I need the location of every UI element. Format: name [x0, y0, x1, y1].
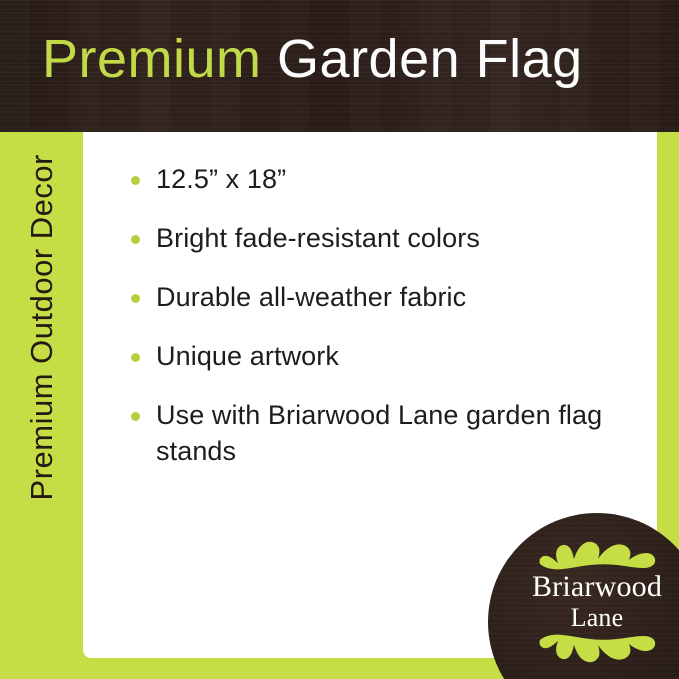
product-info-card: Premium Garden Flag Premium Outdoor Deco… [0, 0, 679, 679]
list-item: Use with Briarwood Lane garden flag stan… [128, 398, 628, 470]
oak-leaf-icon [536, 631, 658, 673]
bullet-dot-icon [131, 176, 140, 185]
list-item-label: Durable all-weather fabric [156, 282, 466, 312]
bullet-dot-icon [131, 412, 140, 421]
bullet-dot-icon [131, 353, 140, 362]
list-item-label: Unique artwork [156, 341, 339, 371]
page-title-rest: Garden Flag [262, 29, 583, 89]
brand-name-main: Briarwood [488, 571, 679, 603]
page-title: Premium Garden Flag [42, 32, 583, 86]
list-item: 12.5” x 18” [128, 162, 628, 198]
sidebar-strip [0, 132, 83, 679]
list-item-label: 12.5” x 18” [156, 164, 286, 194]
oak-leaf-icon [536, 531, 658, 573]
brand-name-sub: Lane [488, 603, 679, 633]
bullet-dot-icon [131, 235, 140, 244]
list-item-label: Bright fade-resistant colors [156, 223, 480, 253]
feature-list: 12.5” x 18” Bright fade-resistant colors… [128, 162, 628, 469]
bullet-dot-icon [131, 294, 140, 303]
list-item-label: Use with Briarwood Lane garden flag stan… [156, 400, 602, 466]
list-item: Bright fade-resistant colors [128, 221, 628, 257]
brand-wordmark: Briarwood Lane [488, 571, 679, 632]
list-item: Unique artwork [128, 339, 628, 375]
header-bar: Premium Garden Flag [0, 0, 679, 132]
page-title-accent: Premium [42, 29, 262, 89]
list-item: Durable all-weather fabric [128, 280, 628, 316]
